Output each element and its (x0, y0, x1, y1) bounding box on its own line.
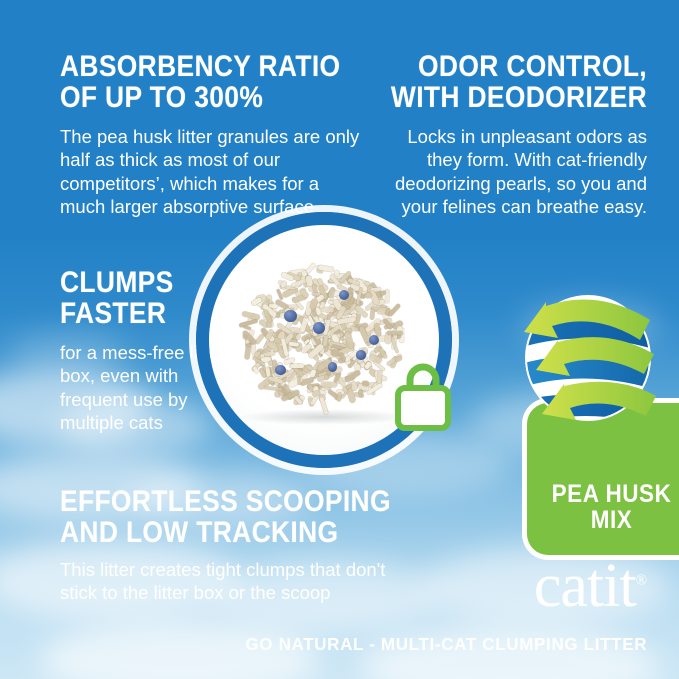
feature-effortless-scooping-body: This litter creates tight clumps that do… (60, 558, 420, 605)
feature-effortless-scooping-headline: EFFORTLESS SCOOPING AND LOW TRACKING (60, 487, 412, 548)
badge-line: MIX (591, 506, 633, 534)
badge-line: PEA HUSK (552, 480, 672, 508)
feature-effortless-scooping: EFFORTLESS SCOOPING AND LOW TRACKING Thi… (60, 487, 460, 605)
pea-husk-badge: PEA HUSK MIX (506, 282, 679, 560)
headline-line: OF UP TO 300% (60, 81, 263, 114)
feature-odor-control: ODOR CONTROL, WITH DEODORIZER Locks in u… (347, 52, 647, 218)
feature-absorbency-headline: ABSORBENCY RATIO OF UP TO 300% (60, 52, 350, 113)
feature-odor-control-body: Locks in unpleasant odors as they form. … (389, 125, 647, 218)
feature-absorbency-body: The pea husk litter granules are only ha… (60, 125, 365, 218)
registered-mark: ® (636, 572, 647, 588)
headline-line: ODOR CONTROL, (418, 50, 647, 83)
headline-line: FASTER (60, 297, 166, 330)
catit-logo: catit® (534, 555, 647, 617)
tagline: GO NATURAL - MULTI-CAT CLUMPING LITTER (245, 634, 647, 655)
feature-odor-control-headline: ODOR CONTROL, WITH DEODORIZER (383, 52, 647, 113)
headline-line: WITH DEODORIZER (391, 81, 647, 114)
headline-line: ABSORBENCY RATIO (60, 50, 340, 83)
headline-line: EFFORTLESS SCOOPING (60, 485, 391, 518)
recycling-globe-icon (512, 282, 664, 434)
litter-clump (240, 262, 408, 412)
headline-line: CLUMPS (60, 266, 174, 299)
padlock-icon (392, 358, 454, 432)
feature-absorbency: ABSORBENCY RATIO OF UP TO 300% The pea h… (60, 52, 390, 218)
product-feature-infographic: ABSORBENCY RATIO OF UP TO 300% The pea h… (0, 0, 679, 679)
headline-line: AND LOW TRACKING (60, 516, 338, 549)
catit-wordmark: catit (534, 552, 636, 620)
pea-husk-label: PEA HUSK MIX (535, 481, 679, 533)
